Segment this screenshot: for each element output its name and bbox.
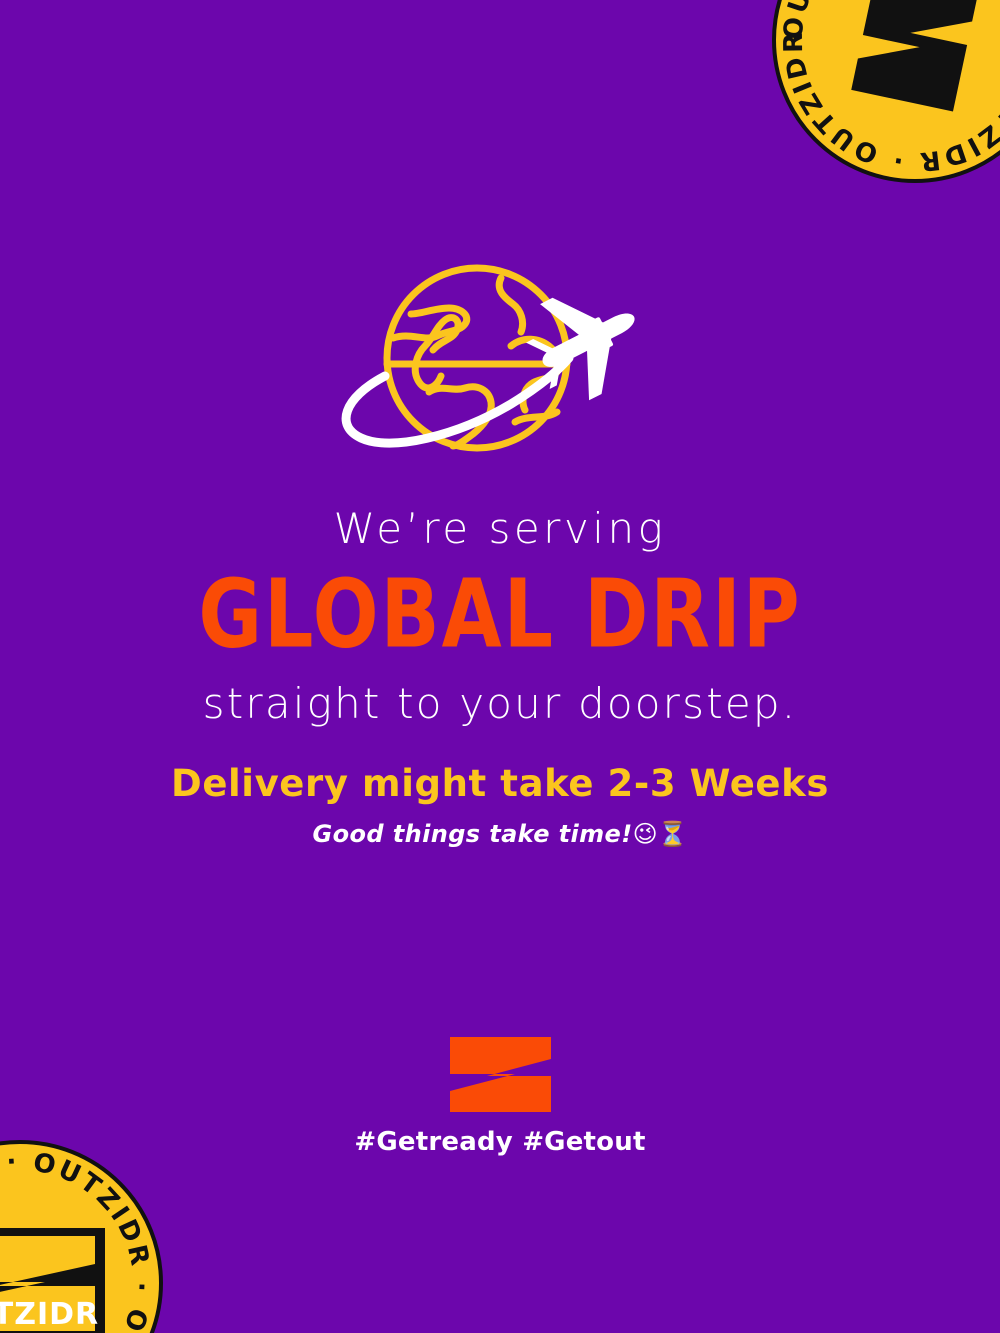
wink-face-icon: 😉 xyxy=(633,820,658,848)
hourglass-icon: ⏳ xyxy=(658,820,688,848)
headline-pre-text: We’re serving xyxy=(0,505,1000,553)
delivery-subtext-row: Good things take time!😉⏳ xyxy=(0,820,1000,848)
delivery-subtext: Good things take time! xyxy=(313,820,633,848)
globe-airplane-illustration xyxy=(325,250,675,475)
outzidr-z-logo xyxy=(449,1036,552,1113)
hashtags-text: #Getready #Getout xyxy=(0,1127,1000,1157)
footer-block: #Getready #Getout xyxy=(0,1036,1000,1157)
outzidr-stamp-top-right: OUTZIDR · OUTZIDR · OUTZIDR · OUTZIDR · xyxy=(770,0,1000,185)
headline-block: We’re serving GLOBAL DRIP straight to yo… xyxy=(0,505,1000,728)
headline-main-text: GLOBAL DRIP xyxy=(15,559,985,670)
poster-canvas: OUTZIDR · OUTZIDR · OUTZIDR · OUTZIDR · … xyxy=(0,0,1000,1333)
delivery-time-text: Delivery might take 2-3 Weeks xyxy=(0,762,1000,806)
headline-post-text: straight to your doorstep. xyxy=(0,680,1000,728)
outzidr-stamp-bottom-left: OUTZIDR · OUTZIDR · OUTZIDR · OUTZIDR · … xyxy=(0,1138,165,1333)
svg-text:OUTZIDR: OUTZIDR xyxy=(0,1297,99,1332)
delivery-notice-block: Delivery might take 2-3 Weeks Good thing… xyxy=(0,762,1000,848)
